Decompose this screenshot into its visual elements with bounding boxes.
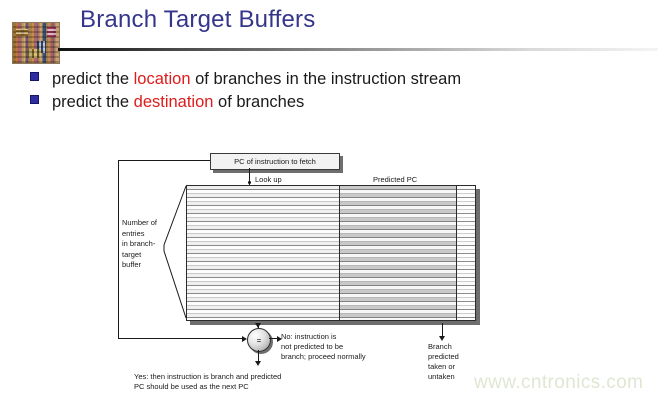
no-line: not predicted to be	[281, 342, 366, 352]
feedback-wire-bottom	[118, 338, 242, 339]
taken-untaken-column	[457, 186, 475, 320]
no-line: No: instruction is	[281, 332, 366, 342]
entries-line: Number of	[122, 218, 157, 229]
microchip-die-image-icon	[12, 22, 60, 64]
slide-canvas: Branch Target Buffers predict the locati…	[0, 0, 663, 400]
list-item: predict the location of branches in the …	[30, 70, 650, 89]
branch-pred-line: Branch	[428, 342, 459, 352]
pc-box-label: PC of instruction to fetch	[234, 157, 316, 166]
list-item: predict the destination of branches	[30, 93, 650, 112]
yes-line: Yes: then instruction is branch and pred…	[134, 372, 281, 382]
lookup-label: Look up	[255, 175, 282, 185]
bullet-list: predict the location of branches in the …	[30, 70, 650, 116]
entries-line: entries	[122, 229, 157, 240]
branch-pred-line: untaken	[428, 372, 459, 382]
branch-target-buffer-diagram: PC of instruction to fetch Look up Predi…	[118, 150, 538, 398]
bullet-highlight: destination	[134, 93, 214, 111]
die-texture-overlay	[13, 23, 59, 63]
entries-brace-icon	[162, 185, 186, 319]
branch-pred-line: taken or	[428, 362, 459, 372]
yes-branch-label: Yes: then instruction is branch and pred…	[134, 372, 281, 392]
no-branch-label: No: instruction is not predicted to be b…	[281, 332, 366, 362]
bullet-text-post: of branches	[213, 93, 304, 111]
title-divider	[58, 48, 658, 51]
yes-line: PC should be used as the next PC	[134, 382, 281, 392]
branch-target-buffer-table	[186, 185, 476, 321]
branch-predicted-label: Branch predicted taken or untaken	[428, 342, 459, 382]
bullet-text-post: of branches in the instruction stream	[191, 70, 462, 88]
yes-branch-arrow-icon	[255, 361, 261, 366]
no-line: branch; proceed normally	[281, 352, 366, 362]
bullet-text-pre: predict the	[52, 70, 134, 88]
comparator-symbol: =	[257, 336, 262, 345]
bullet-text-pre: predict the	[52, 93, 134, 111]
branch-pred-line: predicted	[428, 352, 459, 362]
feedback-wire-top	[118, 160, 210, 161]
predicted-pc-column	[340, 186, 457, 320]
pc-of-instruction-box: PC of instruction to fetch	[210, 153, 340, 170]
comparator-equals: =	[247, 328, 271, 352]
bullet-text: predict the destination of branches	[52, 93, 304, 112]
watermark: www.cntronics.com	[474, 372, 643, 394]
entries-line: in branch-	[122, 239, 157, 250]
lookup-wire-terminal	[248, 181, 251, 184]
number-of-entries-label: Number of entries in branch- target buff…	[122, 218, 157, 271]
entries-line: buffer	[122, 260, 157, 271]
bullet-square-icon	[30, 95, 39, 104]
page-title: Branch Target Buffers	[80, 6, 315, 34]
bullet-highlight: location	[134, 70, 191, 88]
bullet-text: predict the location of branches in the …	[52, 70, 461, 89]
branch-prediction-arrow-icon	[439, 336, 445, 341]
feedback-wire-left	[118, 160, 119, 339]
predicted-pc-label: Predicted PC	[373, 175, 417, 185]
entries-line: target	[122, 250, 157, 261]
tag-column	[187, 186, 340, 320]
bullet-square-icon	[30, 72, 39, 81]
